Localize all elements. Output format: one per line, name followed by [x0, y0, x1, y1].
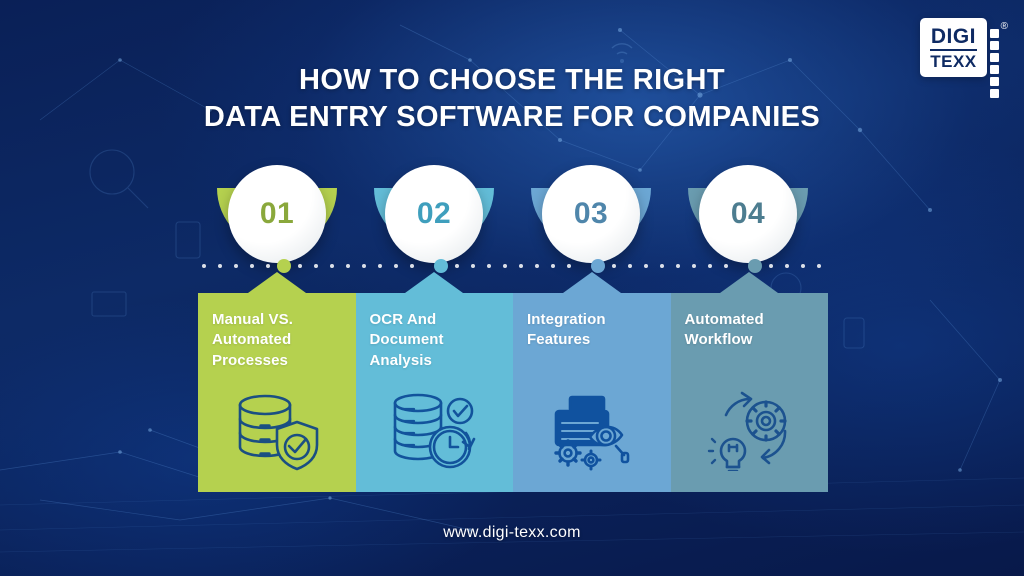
step-number-2: 02: [417, 197, 451, 231]
step-panel-4[interactable]: Automated Workflow: [671, 272, 829, 492]
step-circle-4[interactable]: 04: [669, 160, 827, 268]
step-ball-2: 02: [385, 165, 483, 263]
panel-title-3: Integration Features: [513, 310, 671, 351]
footer-website[interactable]: www.digi-texx.com: [0, 524, 1024, 542]
logo-divider: [930, 49, 976, 51]
step-number-3: 03: [574, 197, 608, 231]
panel-body-3: Integration Features: [513, 293, 671, 492]
panel-body-4: Automated Workflow: [671, 293, 829, 492]
step-number-1: 01: [260, 197, 294, 231]
folder-magnifier-gears-icon: [546, 389, 638, 476]
logo-text-digi: DIGI: [931, 26, 976, 47]
step-ball-1: 01: [228, 165, 326, 263]
lightbulb-gear-cycle-icon: [703, 389, 795, 476]
step-circles-row: 01 02 03 04: [198, 160, 828, 270]
registered-trademark-symbol: ®: [1001, 22, 1008, 32]
panel-title-1: Manual VS. Automated Processes: [198, 310, 356, 371]
step-panels-row: Manual VS. Automated Processes: [198, 272, 828, 492]
step-circle-3[interactable]: 03: [512, 160, 670, 268]
panel-title-2: OCR And Document Analysis: [356, 310, 514, 371]
panel-peak-3: [563, 272, 621, 293]
panel-body-2: OCR And Document Analysis: [356, 293, 514, 492]
step-number-4: 04: [731, 197, 765, 231]
database-clock-check-icon: [388, 389, 480, 476]
page-title: HOW TO CHOOSE THE RIGHT DATA ENTRY SOFTW…: [0, 62, 1024, 136]
title-line-1: HOW TO CHOOSE THE RIGHT: [0, 62, 1024, 99]
step-ball-3: 03: [542, 165, 640, 263]
step-panel-3[interactable]: Integration Features: [513, 272, 671, 492]
panel-peak-4: [720, 272, 778, 293]
panel-peak-2: [405, 272, 463, 293]
step-panel-2[interactable]: OCR And Document Analysis: [356, 272, 514, 492]
step-circle-2[interactable]: 02: [355, 160, 513, 268]
step-panel-1[interactable]: Manual VS. Automated Processes: [198, 272, 356, 492]
step-ball-4: 04: [699, 165, 797, 263]
panel-body-1: Manual VS. Automated Processes: [198, 293, 356, 492]
panel-peak-1: [248, 272, 306, 293]
database-shield-check-icon: [231, 389, 323, 476]
panel-title-4: Automated Workflow: [671, 310, 829, 351]
title-line-2: DATA ENTRY SOFTWARE FOR COMPANIES: [0, 99, 1024, 136]
step-circle-1[interactable]: 01: [198, 160, 356, 268]
